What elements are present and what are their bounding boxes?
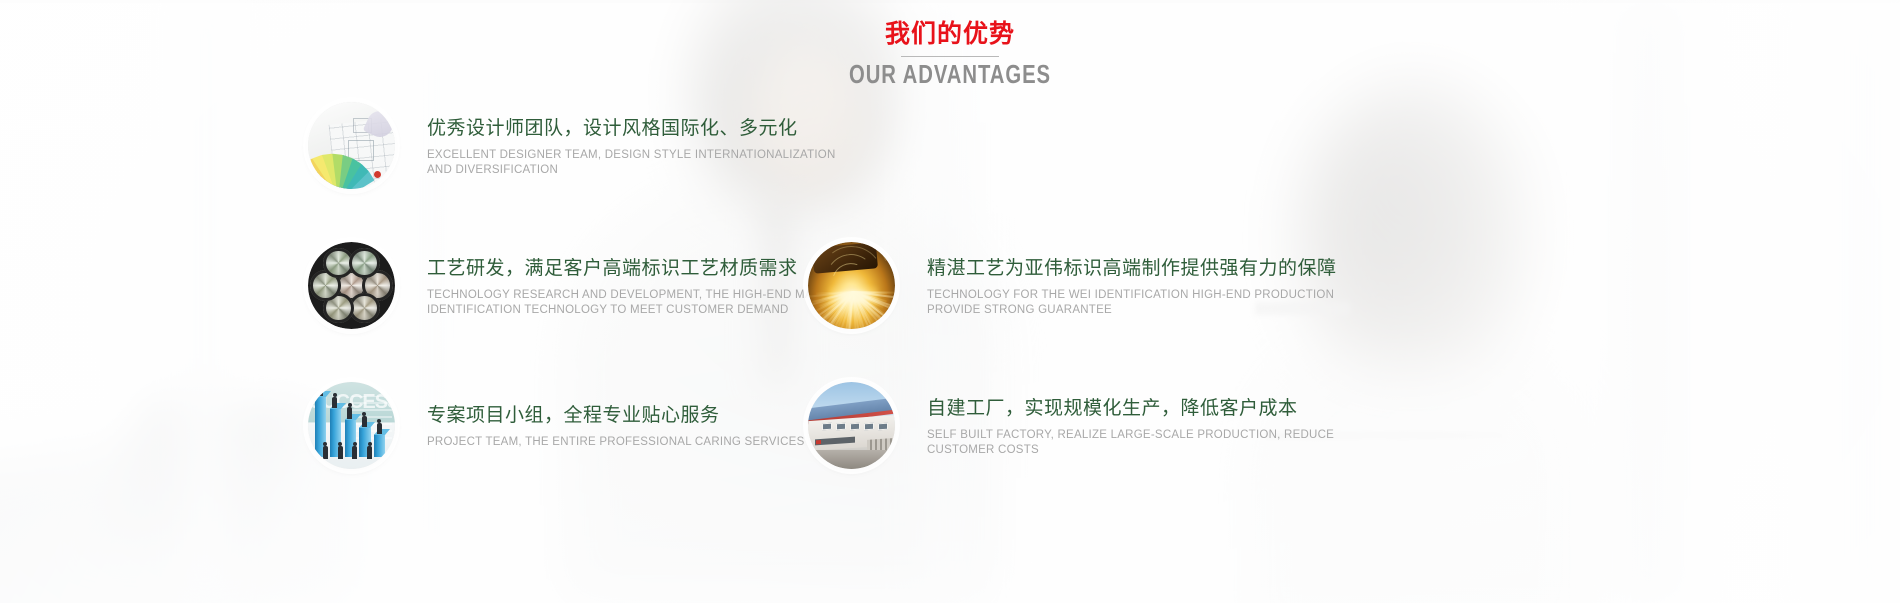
technology-rd-title-cn: 工艺研发，满足客户高端标识工艺材质需求: [427, 256, 854, 281]
technology-rd-texts: 工艺研发，满足客户高端标识工艺材质需求 TECHNOLOGY RESEARCH …: [427, 254, 854, 317]
title-divider: [901, 56, 999, 57]
factory-title-en: SELF BUILT FACTORY, REALIZE LARGE-SCALE …: [927, 428, 1334, 457]
technology-rd-en-line-2: IDENTIFICATION TECHNOLOGY TO MEET CUSTOM…: [427, 303, 854, 318]
factory-image: [808, 382, 895, 469]
craftsmanship-en-line-1: TECHNOLOGY FOR THE WEI IDENTIFICATION HI…: [927, 288, 1337, 303]
project-team-en-line-1: PROJECT TEAM, THE ENTIRE PROFESSIONAL CA…: [427, 435, 805, 450]
craftsmanship-title-cn: 精湛工艺为亚伟标识高端制作提供强有力的保障: [927, 256, 1337, 281]
designer-team-title-cn: 优秀设计师团队，设计风格国际化、多元化: [427, 116, 836, 141]
project-team-texts: 专案项目小组，全程专业贴心服务 PROJECT TEAM, THE ENTIRE…: [427, 401, 805, 450]
section-header: 我们的优势 OUR ADVANTAGES: [0, 18, 1900, 89]
technology-rd-en-line-1: TECHNOLOGY RESEARCH AND DEVELOPMENT, THE…: [427, 288, 854, 303]
technology-rd-title-en: TECHNOLOGY RESEARCH AND DEVELOPMENT, THE…: [427, 288, 854, 317]
designer-team-en-line-2: AND DIVERSIFICATION: [427, 163, 836, 178]
designer-team-texts: 优秀设计师团队，设计风格国际化、多元化 EXCELLENT DESIGNER T…: [427, 114, 836, 177]
factory-texts: 自建工厂，实现规模化生产，降低客户成本 SELF BUILT FACTORY, …: [927, 394, 1334, 457]
factory-building-icon: [808, 382, 895, 469]
factory-en-line-1: SELF BUILT FACTORY, REALIZE LARGE-SCALE …: [927, 428, 1334, 443]
success-bar-chart-icon: SUCCESS: [308, 382, 395, 469]
advantage-item-designer-team[interactable]: 优秀设计师团队，设计风格国际化、多元化 EXCELLENT DESIGNER T…: [308, 102, 868, 189]
project-team-image: SUCCESS: [308, 382, 395, 469]
factory-en-line-2: CUSTOMER COSTS: [927, 443, 1334, 458]
designer-team-title-en: EXCELLENT DESIGNER TEAM, DESIGN STYLE IN…: [427, 148, 836, 177]
section-title-english: OUR ADVANTAGES: [209, 59, 1691, 89]
metal-tubes-icon: [308, 242, 395, 329]
advantages-section: 我们的优势 OUR ADVANTAGES 优秀设计师团队，设计风格国际化、多元化…: [0, 0, 1900, 603]
factory-title-cn: 自建工厂，实现规模化生产，降低客户成本: [927, 396, 1334, 421]
section-title-chinese: 我们的优势: [0, 18, 1900, 50]
color-swatch-blueprint-icon: [308, 102, 395, 189]
project-team-title-cn: 专案项目小组，全程专业贴心服务: [427, 403, 805, 428]
craftsmanship-en-line-2: PROVIDE STRONG GUARANTEE: [927, 303, 1337, 318]
project-team-title-en: PROJECT TEAM, THE ENTIRE PROFESSIONAL CA…: [427, 435, 805, 450]
advantage-item-self-built-factory[interactable]: 自建工厂，实现规模化生产，降低客户成本 SELF BUILT FACTORY, …: [808, 382, 1368, 469]
advantage-item-technology-rd[interactable]: 工艺研发，满足客户高端标识工艺材质需求 TECHNOLOGY RESEARCH …: [308, 242, 868, 329]
designer-team-en-line-1: EXCELLENT DESIGNER TEAM, DESIGN STYLE IN…: [427, 148, 836, 163]
advantage-item-project-team[interactable]: SUCCESS 专案项目小组，全程专业贴心服务 PROJECT TEAM, TH…: [308, 382, 868, 469]
laser-cutting-sparks-icon: [808, 242, 895, 329]
advantage-item-craftsmanship-guarantee[interactable]: 精湛工艺为亚伟标识高端制作提供强有力的保障 TECHNOLOGY FOR THE…: [808, 242, 1368, 329]
designer-team-image: [308, 102, 395, 189]
technology-rd-image: [308, 242, 395, 329]
craftsmanship-image: [808, 242, 895, 329]
craftsmanship-texts: 精湛工艺为亚伟标识高端制作提供强有力的保障 TECHNOLOGY FOR THE…: [927, 254, 1337, 317]
craftsmanship-title-en: TECHNOLOGY FOR THE WEI IDENTIFICATION HI…: [927, 288, 1337, 317]
